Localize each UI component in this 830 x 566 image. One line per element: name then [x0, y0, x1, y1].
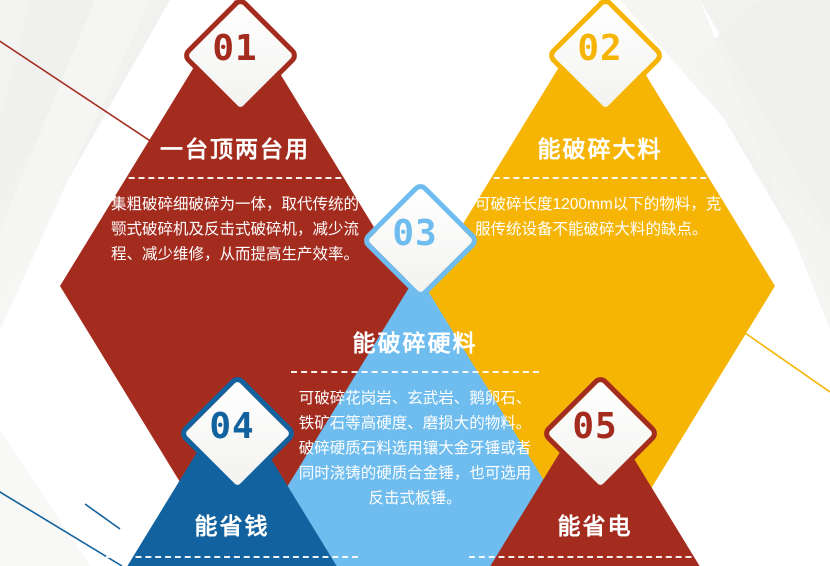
- badge-number-05: 05: [542, 375, 648, 481]
- badge-number-01: 01: [182, 0, 288, 103]
- card-01-text: 一台顶两台用 集粗破碎细破碎为一体，取代传统的颚式破碎机及反击式破碎机，减少流程…: [70, 136, 400, 267]
- card-badge-05[interactable]: 05: [542, 375, 648, 481]
- card-02-divider: [474, 177, 726, 179]
- card-02-title: 能破碎大料: [435, 136, 765, 164]
- card-03-divider: [291, 371, 539, 373]
- card-badge-03[interactable]: 03: [362, 182, 468, 288]
- infographic-canvas: 一台顶两台用 集粗破碎细破碎为一体，取代传统的颚式破碎机及反击式破碎机，减少流程…: [0, 0, 830, 566]
- card-01-divider: [109, 177, 361, 179]
- card-badge-02[interactable]: 02: [547, 0, 653, 103]
- card-05-text: 能省电: [430, 513, 760, 566]
- card-03-text: 能破碎硬料 可破碎花岗岩、玄武岩、鹅卵石、铁矿石等高硬度、磨损大的物料。破碎硬质…: [250, 330, 580, 511]
- card-05-divider: [469, 556, 721, 558]
- card-01-title: 一台顶两台用: [70, 136, 400, 164]
- card-05-title: 能省电: [430, 513, 760, 541]
- card-04-text: 能省钱: [67, 513, 397, 566]
- card-badge-01[interactable]: 01: [182, 0, 288, 103]
- badge-number-03: 03: [362, 182, 468, 288]
- card-03-title: 能破碎硬料: [250, 330, 580, 358]
- card-03-body: 可破碎花岗岩、玄武岩、鹅卵石、铁矿石等高硬度、磨损大的物料。破碎硬质石料选用镶大…: [292, 386, 538, 512]
- card-04-title: 能省钱: [67, 513, 397, 541]
- badge-number-04: 04: [179, 375, 285, 481]
- card-02-text: 能破碎大料 可破碎长度1200mm以下的物料，克服传统设备不能破碎大料的缺点。: [435, 136, 765, 242]
- card-01-body: 集粗破碎细破碎为一体，取代传统的颚式破碎机及反击式破碎机，减少流程、减少维修，从…: [110, 192, 360, 267]
- badge-number-02: 02: [547, 0, 653, 103]
- card-04-divider: [106, 556, 358, 558]
- card-02-body: 可破碎长度1200mm以下的物料，克服传统设备不能破碎大料的缺点。: [475, 192, 725, 242]
- card-badge-04[interactable]: 04: [179, 375, 285, 481]
